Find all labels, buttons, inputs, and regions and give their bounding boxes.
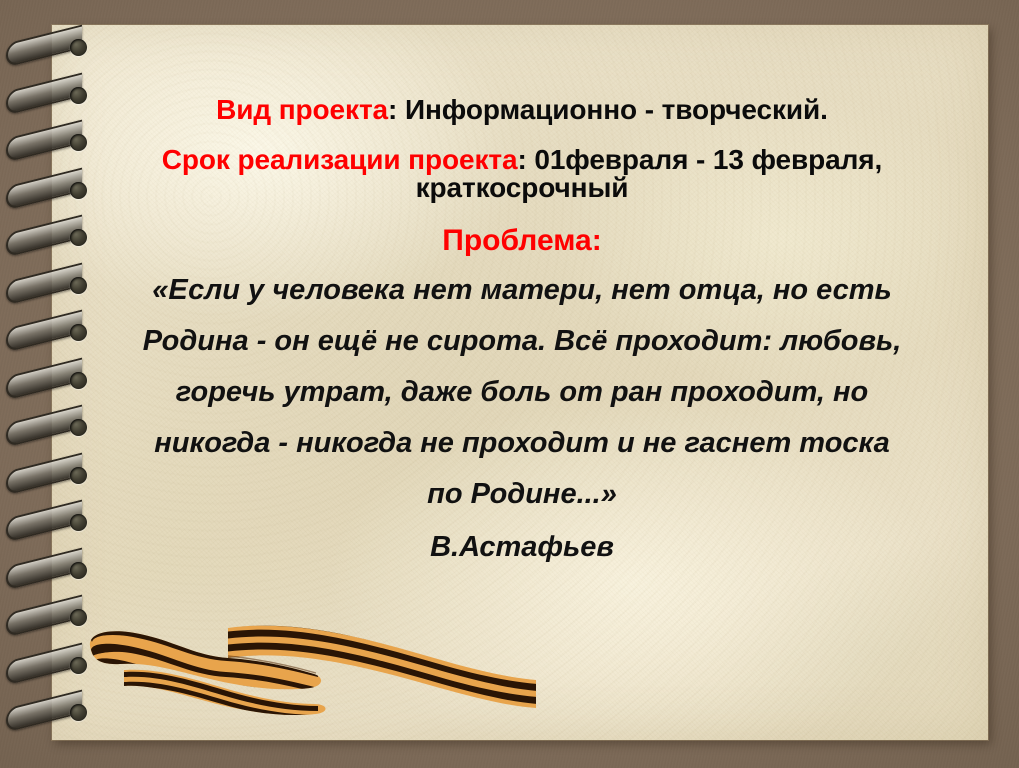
quote-line: горечь утрат, даже боль от ран проходит,… (112, 378, 932, 407)
binding-hole (70, 39, 87, 56)
quote-block: «Если у человека нет матери, нет отца, н… (112, 276, 932, 509)
binding-hole (70, 609, 87, 626)
project-term-label: Срок реализации проекта (162, 144, 518, 175)
binding-hole (70, 277, 87, 294)
binding-hole (70, 562, 87, 579)
project-term-line: Срок реализации проекта: 01февраля - 13 … (112, 146, 932, 202)
binding-hole (70, 182, 87, 199)
quote-line: по Родине...» (112, 480, 932, 509)
slide-canvas: Вид проекта: Информационно - творческий.… (0, 0, 1019, 768)
binding-hole (70, 704, 87, 721)
project-type-separator: : (388, 94, 405, 125)
quote-author: В.Астафьев (112, 531, 932, 564)
binding-hole (70, 467, 87, 484)
binding-hole (70, 229, 87, 246)
problem-heading: Проблема: (112, 224, 932, 258)
project-type-line: Вид проекта: Информационно - творческий. (112, 96, 932, 124)
quote-line: «Если у человека нет матери, нет отца, н… (112, 276, 932, 305)
project-term-separator: : (517, 144, 534, 175)
binding-hole (70, 134, 87, 151)
project-type-label: Вид проекта (216, 94, 388, 125)
binding-hole (70, 514, 87, 531)
binding-hole (70, 87, 87, 104)
project-type-value: Информационно - творческий. (405, 94, 828, 125)
spiral-binding (0, 0, 130, 768)
binding-hole (70, 324, 87, 341)
quote-line: никогда - никогда не проходит и не гасне… (112, 429, 932, 458)
quote-line: Родина - он ещё не сирота. Всё проходит:… (112, 327, 932, 356)
binding-hole (70, 419, 87, 436)
binding-hole (70, 657, 87, 674)
slide-text-content: Вид проекта: Информационно - творческий.… (112, 96, 932, 564)
binding-hole (70, 372, 87, 389)
